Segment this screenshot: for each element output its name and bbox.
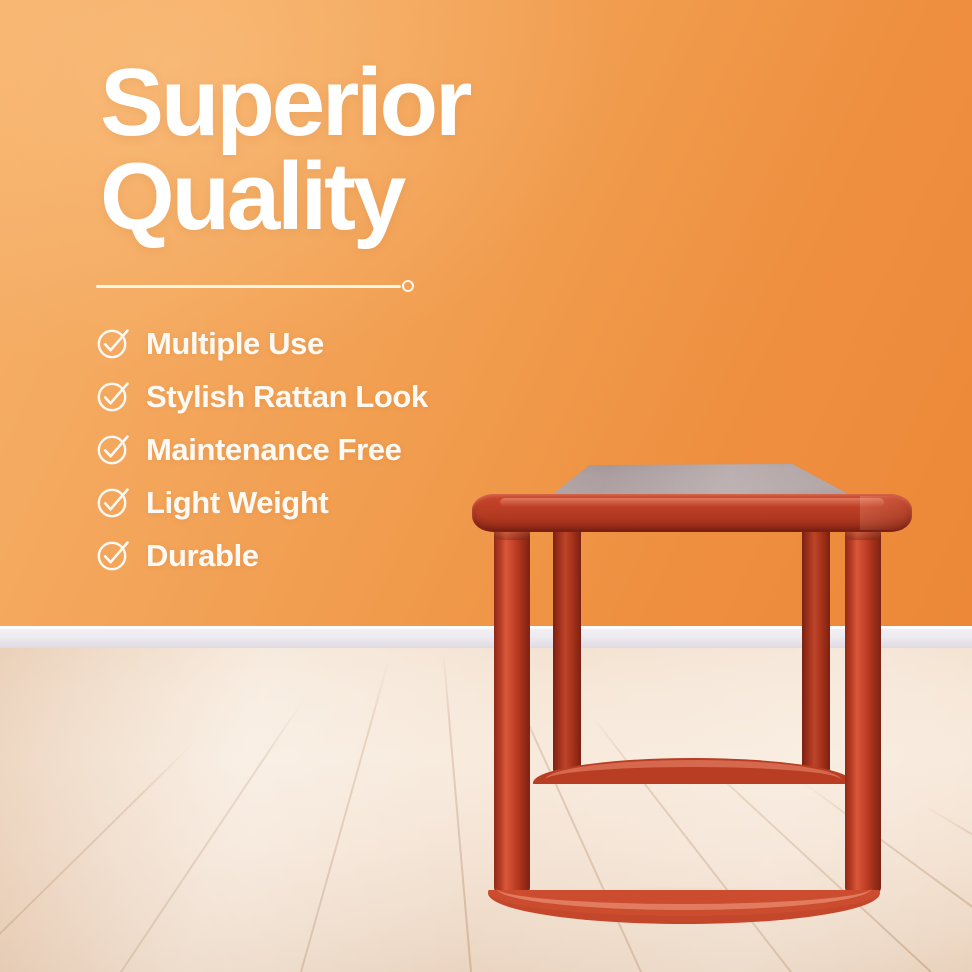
feature-label: Maintenance Free: [146, 434, 401, 465]
feature-item-3: Light Weight: [96, 481, 428, 523]
floor-plank-seam: [120, 702, 302, 972]
check-circle-icon: [96, 432, 130, 466]
check-circle-icon: [96, 538, 130, 572]
check-circle-icon: [96, 485, 130, 519]
feature-list: Multiple Use Stylish Rattan Look Mainten…: [96, 322, 428, 576]
feature-label: Multiple Use: [146, 328, 324, 359]
feature-item-4: Durable: [96, 534, 428, 576]
divider-end-dot-icon: [402, 280, 414, 292]
floor-plank-seam: [693, 751, 932, 972]
floor-plank-seam: [300, 660, 390, 972]
page-title: Superior Quality: [100, 56, 469, 244]
floor-plank-seam: [506, 677, 642, 972]
baseboard-top-edge: [0, 626, 972, 629]
feature-label: Durable: [146, 540, 259, 571]
divider-line: [96, 285, 401, 288]
feature-item-0: Multiple Use: [96, 322, 428, 364]
floor-plank-seam: [442, 649, 472, 972]
check-circle-icon: [96, 379, 130, 413]
feature-item-2: Maintenance Free: [96, 428, 428, 470]
feature-label: Stylish Rattan Look: [146, 381, 428, 412]
divider: [96, 280, 414, 292]
feature-label: Light Weight: [146, 487, 328, 518]
wood-plank-floor: [0, 648, 972, 972]
white-baseboard: [0, 626, 972, 650]
floor-plank-seam: [591, 716, 791, 972]
product-banner: Superior Quality Multiple Use Stylish Ra…: [0, 0, 972, 972]
floor-plank-seam: [0, 744, 193, 972]
feature-item-1: Stylish Rattan Look: [96, 375, 428, 417]
check-circle-icon: [96, 326, 130, 360]
